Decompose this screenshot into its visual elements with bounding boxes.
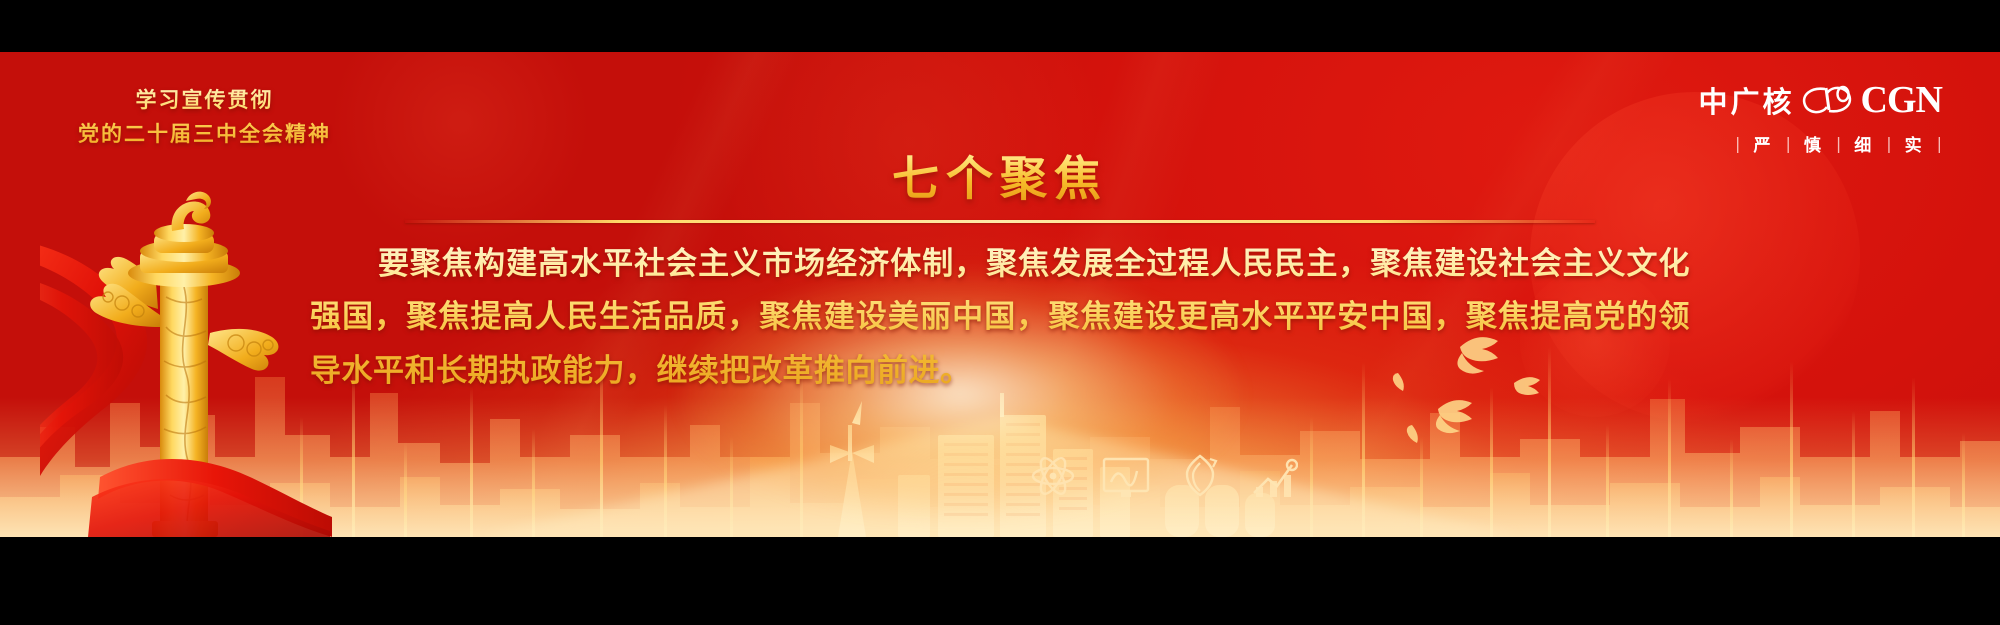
letterbox-bottom: [0, 537, 2000, 625]
huabiao-column-icon: [40, 177, 340, 537]
growth-chart-icon: [1250, 455, 1298, 499]
title-divider: [405, 220, 1595, 223]
banner-body-text: 要聚焦构建高水平社会主义市场经济体制，聚焦发展全过程人民民主，聚焦建设社会主义文…: [310, 238, 1690, 398]
cgn-swirl-mark-icon: [1799, 83, 1857, 117]
propaganda-banner: 学习宣传贯彻 党的二十届三中全会精神 中广核 CGN: [0, 0, 2000, 625]
slogan-line-1: 学习宣传贯彻: [78, 85, 331, 115]
nuclear-energy-icon: [1176, 453, 1224, 499]
letterbox-top: [0, 0, 2000, 52]
logo-chinese-name: 中广核: [1699, 79, 1795, 121]
banner-stage: 学习宣传贯彻 党的二十届三中全会精神 中广核 CGN: [0, 52, 2000, 537]
monitor-chart-icon: [1102, 457, 1150, 499]
atom-icon: [1030, 453, 1076, 499]
logo-main-row: 中广核 CGN: [1699, 78, 1942, 122]
logo-english-name: CGN: [1861, 78, 1942, 122]
banner-title: 七个聚焦: [0, 140, 2000, 209]
energy-icons: [1030, 453, 1298, 499]
